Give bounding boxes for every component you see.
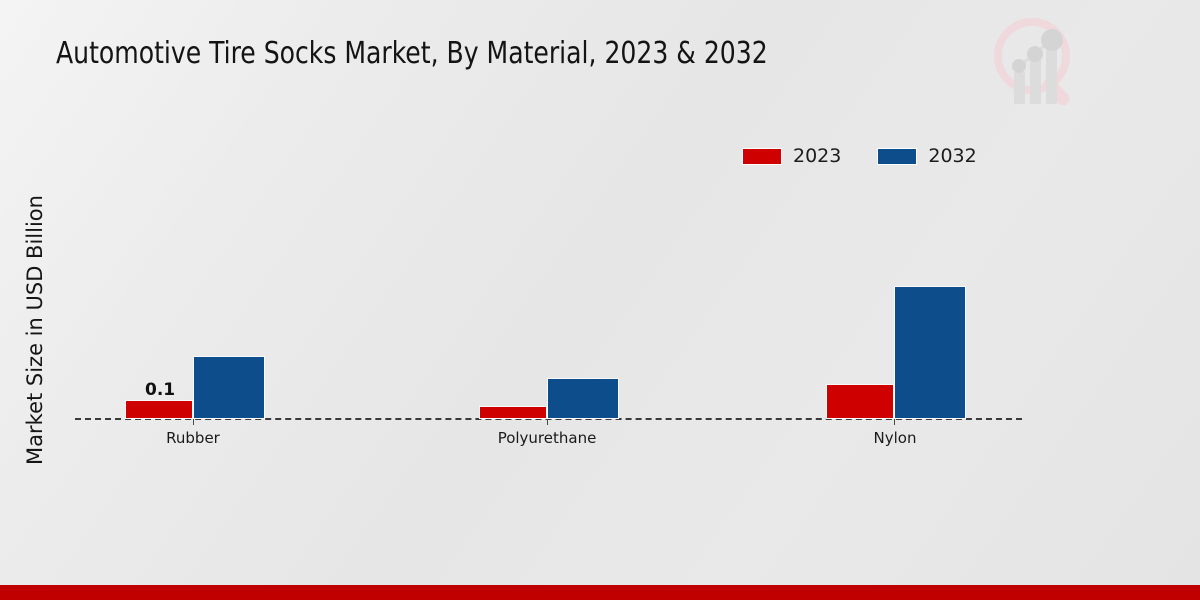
bar-rubber-2032[interactable]: [193, 356, 265, 419]
chart-canvas: Automotive Tire Socks Market, By Materia…: [0, 0, 1200, 600]
category-label-polyurethane: Polyurethane: [495, 428, 599, 448]
footer-band: [0, 585, 1200, 600]
axis-tick-nylon: [894, 419, 895, 425]
plot-area: 0.1 Rubber Polyurethane Nylon: [0, 0, 1200, 600]
bar-rubber-2023[interactable]: [125, 400, 193, 419]
category-label-nylon: Nylon: [840, 428, 950, 448]
bar-polyurethane-2023[interactable]: [479, 406, 547, 419]
bar-nylon-2032[interactable]: [894, 286, 966, 419]
category-label-rubber: Rubber: [138, 428, 248, 448]
bar-value-rubber-2023: 0.1: [145, 380, 175, 400]
axis-tick-rubber: [193, 419, 194, 425]
bar-polyurethane-2032[interactable]: [547, 378, 619, 419]
axis-tick-polyurethane: [547, 419, 548, 425]
bar-nylon-2023[interactable]: [826, 384, 894, 419]
